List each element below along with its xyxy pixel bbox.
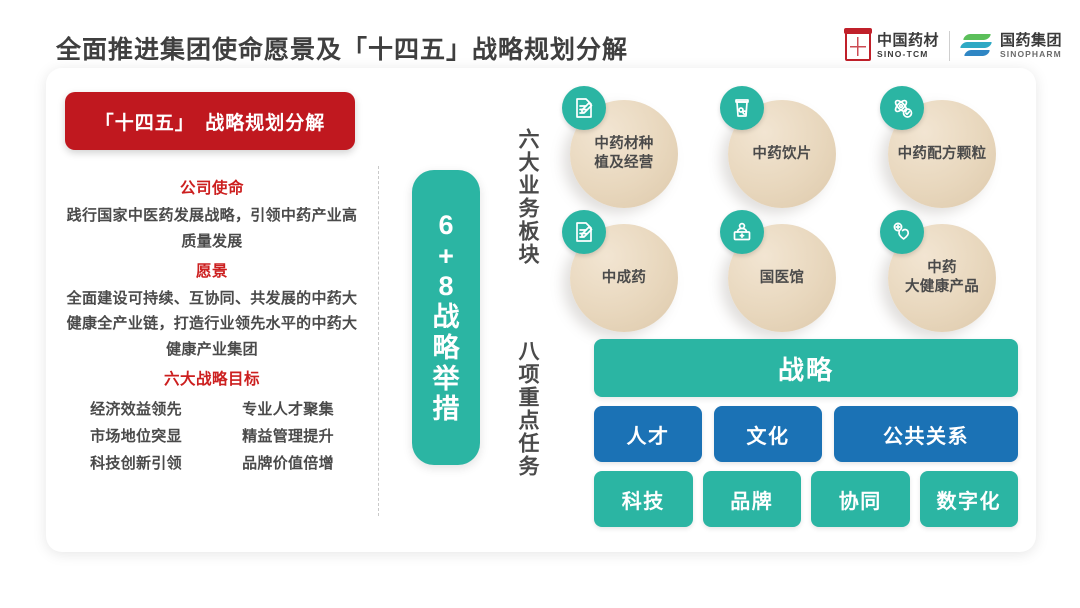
business-circle-label: 中成药 — [602, 269, 646, 288]
goal-item: 科技创新引领 — [62, 452, 210, 473]
six-plus-eight-pill: 6 + 8 战 略 举 措 — [412, 170, 480, 465]
vision-heading: 愿景 — [62, 259, 362, 281]
logo-sinopharm: 国药集团 SINOPHARM — [960, 33, 1062, 59]
goals-grid: 经济效益领先 专业人才聚集 市场地位突显 精益管理提升 科技创新引领 品牌价值倍… — [62, 398, 362, 473]
strategy-chip-public-relations[interactable]: 公共关系 — [834, 406, 1018, 462]
logo-sino-tcm: 中国药材 SINO-TCM — [845, 31, 939, 61]
business-circle-label: 中药材种 植及经营 — [594, 135, 653, 173]
slide-canvas: 全面推进集团使命愿景及「十四五」战略规划分解 中国药材 SINO-TCM 国药集… — [0, 0, 1080, 608]
pill-line: 略 — [433, 333, 460, 364]
goal-item: 专业人才聚集 — [214, 398, 362, 419]
pill-line: + — [438, 241, 454, 272]
heart-plus-icon — [880, 210, 924, 254]
pill-line: 措 — [433, 394, 460, 425]
document-pen-icon — [562, 86, 606, 130]
business-circle-label: 中药饮片 — [752, 145, 811, 164]
goal-item: 市场地位突显 — [62, 425, 210, 446]
sino-tcm-logo-icon — [845, 31, 871, 61]
sino-tcm-name-cn: 中国药材 — [877, 33, 939, 49]
sinopharm-logo-icon — [960, 33, 994, 59]
label-six-business-boards: 六大业务板块 — [508, 128, 542, 266]
logo-divider — [949, 31, 950, 61]
strategy-chip-technology[interactable]: 科技 — [594, 471, 693, 527]
sinopharm-name-en: SINOPHARM — [1000, 49, 1062, 59]
sino-tcm-name-en: SINO-TCM — [877, 49, 939, 59]
strategy-chip-digitalization[interactable]: 数字化 — [920, 471, 1019, 527]
business-circle[interactable]: 中药材种 植及经营 — [562, 86, 682, 206]
molecule-check-icon — [880, 86, 924, 130]
strategy-chip-synergy[interactable]: 协同 — [811, 471, 910, 527]
logo-row: 中国药材 SINO-TCM 国药集团 SINOPHARM — [845, 26, 1062, 66]
strategy-stack: 战略 人才 文化 公共关系 科技 品牌 协同 数字化 — [594, 339, 1018, 527]
business-circle[interactable]: 中药 大健康产品 — [880, 210, 1000, 330]
business-circle[interactable]: 中药饮片 — [720, 86, 840, 206]
vision-body: 全面建设可持续、互协同、共发展的中药大健康全产业链，打造行业领先水平的中药大健康… — [62, 286, 362, 363]
business-circle[interactable]: 中成药 — [562, 210, 682, 330]
strategy-main-banner[interactable]: 战略 — [594, 339, 1018, 397]
pill-line: 战 — [433, 302, 460, 333]
herb-jar-icon — [720, 86, 764, 130]
pill-line: 举 — [433, 364, 460, 395]
strategy-teal-row: 科技 品牌 协同 数字化 — [594, 471, 1018, 527]
business-circle-label: 中药 大健康产品 — [905, 259, 979, 297]
business-circle-label: 国医馆 — [760, 269, 804, 288]
label-eight-key-tasks: 八项重点任务 — [508, 340, 542, 478]
sinopharm-name-cn: 国药集团 — [1000, 33, 1062, 49]
strategy-chip-talent[interactable]: 人才 — [594, 406, 702, 462]
pill-line: 6 — [438, 210, 453, 241]
business-circle[interactable]: 中药配方颗粒 — [880, 86, 1000, 206]
mission-body: 践行国家中医药发展战略，引领中药产业高质量发展 — [62, 203, 362, 255]
strategy-chip-brand[interactable]: 品牌 — [703, 471, 802, 527]
strategy-main-label: 战略 — [778, 350, 834, 387]
page-title: 全面推进集团使命愿景及「十四五」战略规划分解 — [56, 30, 628, 66]
mission-vision-panel: 公司使命 践行国家中医药发展战略，引领中药产业高质量发展 愿景 全面建设可持续、… — [62, 172, 362, 473]
goal-item: 精益管理提升 — [214, 425, 362, 446]
business-circle-label: 中药配方颗粒 — [898, 145, 987, 164]
goal-item: 品牌价值倍增 — [214, 452, 362, 473]
business-circle-group: 中药材种 植及经营 中药饮片 中药配方颗粒 — [562, 86, 1032, 336]
document-pen-icon — [562, 210, 606, 254]
mission-heading: 公司使命 — [62, 176, 362, 198]
clinic-person-icon — [720, 210, 764, 254]
plan-banner-label: 「十四五」 战略规划分解 — [95, 108, 326, 135]
goal-item: 经济效益领先 — [62, 398, 210, 419]
vertical-dashed-divider — [378, 166, 379, 516]
pill-line: 8 — [438, 271, 453, 302]
business-circle[interactable]: 国医馆 — [720, 210, 840, 330]
strategy-blue-row: 人才 文化 公共关系 — [594, 406, 1018, 462]
strategy-chip-culture[interactable]: 文化 — [714, 406, 822, 462]
plan-banner: 「十四五」 战略规划分解 — [65, 92, 355, 150]
goals-heading: 六大战略目标 — [62, 367, 362, 389]
